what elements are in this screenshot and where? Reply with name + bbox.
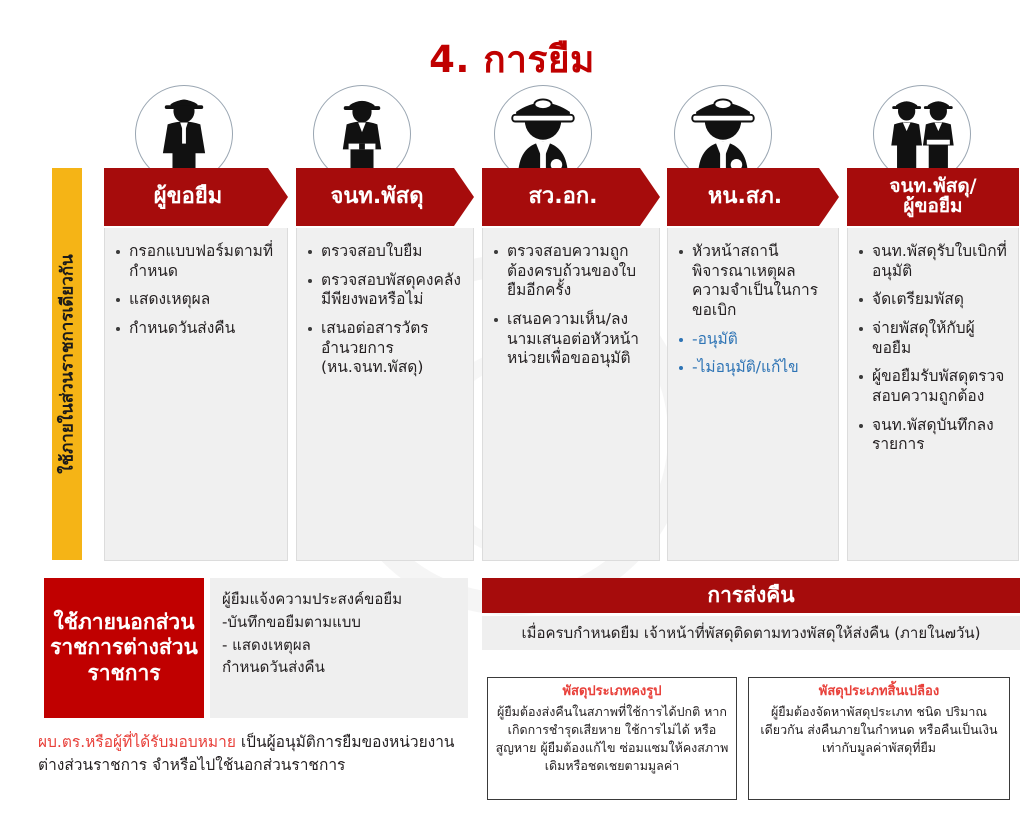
return-card-consumable-text: ผู้ยืมต้องจัดหาพัสดุประเภท ชนิด ปริมาณ เ…	[760, 704, 997, 755]
process-column-3[interactable]: สว.อก. ตรวจสอบความถูกต้องครบถ้วนของใบยืม…	[482, 168, 660, 561]
column-body-1: กรอกแบบฟอร์มตามที่กำหนดแสดงเหตุผลกำหนดวั…	[104, 228, 288, 561]
return-card-durable-text: ผู้ยืมต้องส่งคืนในสภาพที่ใช้การได้ปกติ ห…	[496, 704, 729, 772]
column-body-2: ตรวจสอบใบยืมตรวจสอบพัสดุคงคลังมีพียงพอหร…	[296, 228, 474, 561]
return-card-consumable: พัสดุประเภทสิ้นเปลือง ผู้ยืมต้องจัดหาพัส…	[748, 677, 1010, 800]
process-column-5[interactable]: จนท.พัสดุ/ ผู้ขอยืม จนท.พัสดุรับใบเบิกที…	[847, 168, 1019, 561]
column-5-item-3: จ่ายพัสดุให้กับผู้ขอยืม	[856, 319, 1008, 358]
process-column-4[interactable]: หน.สภ. หัวหน้าสถานีพิจารณาเหตุผลความจำเป…	[667, 168, 839, 561]
column-body-5: จนท.พัสดุรับใบเบิกที่อนุมัติจัดเตรียมพัส…	[847, 228, 1019, 561]
column-3-item-2: เสนอความเห็น/ลงนามเสนอต่อหัวหน้าหน่วยเพื…	[491, 310, 649, 369]
column-body-3: ตรวจสอบความถูกต้องครบถ้วนของใบยืมอีกครั้…	[482, 228, 660, 561]
return-card-durable-heading: พัสดุประเภทคงรูป	[495, 683, 729, 701]
column-list-3: ตรวจสอบความถูกต้องครบถ้วนของใบยืมอีกครั้…	[491, 242, 649, 369]
column-1-item-2: แสดงเหตุผล	[113, 290, 277, 310]
process-column-2[interactable]: จนท.พัสดุ ตรวจสอบใบยืมตรวจสอบพัสดุคงคลัง…	[296, 168, 474, 561]
column-list-5: จนท.พัสดุรับใบเบิกที่อนุมัติจัดเตรียมพัส…	[856, 242, 1008, 455]
column-header-3[interactable]: สว.อก.	[482, 168, 660, 226]
column-header-2[interactable]: จนท.พัสดุ	[296, 168, 474, 226]
sidebar-internal-use-label: ใช้ภายในส่วนราชการเดียวกัน	[52, 168, 82, 560]
column-header-4[interactable]: หน.สภ.	[667, 168, 839, 226]
return-section-subtitle: เมื่อครบกำหนดยืม เจ้าหน้าที่พัสดุติดตามท…	[482, 616, 1020, 650]
column-header-5[interactable]: จนท.พัสดุ/ ผู้ขอยืม	[847, 168, 1019, 226]
column-1-item-3: กำหนดวันส่งคืน	[113, 319, 277, 339]
column-2-item-3: เสนอต่อสารวัตรอำนวยการ (หน.จนท.พัสดุ)	[305, 319, 463, 378]
column-body-4: หัวหน้าสถานีพิจารณาเหตุผลความจำเป็นในการ…	[667, 228, 839, 561]
column-5-item-5: จนท.พัสดุบันทึกลงรายการ	[856, 416, 1008, 455]
column-2-item-2: ตรวจสอบพัสดุคงคลังมีพียงพอหรือไม่	[305, 271, 463, 310]
external-detail-box: ผู้ยืมแจ้งความประสงค์ขอยืม -บันทึกขอยืมต…	[210, 578, 468, 718]
column-header-1[interactable]: ผู้ขอยืม	[104, 168, 288, 226]
column-5-item-1: จนท.พัสดุรับใบเบิกที่อนุมัติ	[856, 242, 1008, 281]
return-card-consumable-heading: พัสดุประเภทสิ้นเปลือง	[756, 683, 1002, 701]
column-3-item-1: ตรวจสอบความถูกต้องครบถ้วนของใบยืมอีกครั้…	[491, 242, 649, 301]
column-list-4: หัวหน้าสถานีพิจารณาเหตุผลความจำเป็นในการ…	[676, 242, 828, 378]
sidebar-label-text: ใช้ภายในส่วนราชการเดียวกัน	[54, 254, 81, 473]
column-5-item-4: ผู้ขอยืมรับพัสดุตรวจสอบความถูกต้อง	[856, 367, 1008, 406]
column-5-item-2: จัดเตรียมพัสดุ	[856, 290, 1008, 310]
process-column-1[interactable]: ผู้ขอยืม กรอกแบบฟอร์มตามที่กำหนดแสดงเหตุ…	[104, 168, 288, 561]
column-4-item-2: -อนุมัติ	[676, 330, 828, 350]
column-2-item-1: ตรวจสอบใบยืม	[305, 242, 463, 262]
page-title: 4. การยืม	[0, 30, 1024, 89]
return-card-durable: พัสดุประเภทคงรูป ผู้ยืมต้องส่งคืนในสภาพท…	[487, 677, 737, 800]
column-list-2: ตรวจสอบใบยืมตรวจสอบพัสดุคงคลังมีพียงพอหร…	[305, 242, 463, 378]
column-4-item-3: -ไม่อนุมัติ/แก้ไข	[676, 358, 828, 378]
external-use-label: ใช้ภายนอกส่วนราชการต่างส่วนราชการ	[44, 578, 204, 718]
column-4-item-1: หัวหน้าสถานีพิจารณาเหตุผลความจำเป็นในการ…	[676, 242, 828, 321]
approval-note-red: ผบ.ตร.หรือผู้ที่ได้รับมอบหมาย	[38, 733, 236, 751]
return-section-header: การส่งคืน	[482, 578, 1020, 613]
column-1-item-1: กรอกแบบฟอร์มตามที่กำหนด	[113, 242, 277, 281]
approval-note: ผบ.ตร.หรือผู้ที่ได้รับมอบหมาย เป็นผู้อนุ…	[38, 731, 478, 778]
diagram-page: 4. การยืม	[0, 0, 1024, 815]
column-list-1: กรอกแบบฟอร์มตามที่กำหนดแสดงเหตุผลกำหนดวั…	[113, 242, 277, 339]
